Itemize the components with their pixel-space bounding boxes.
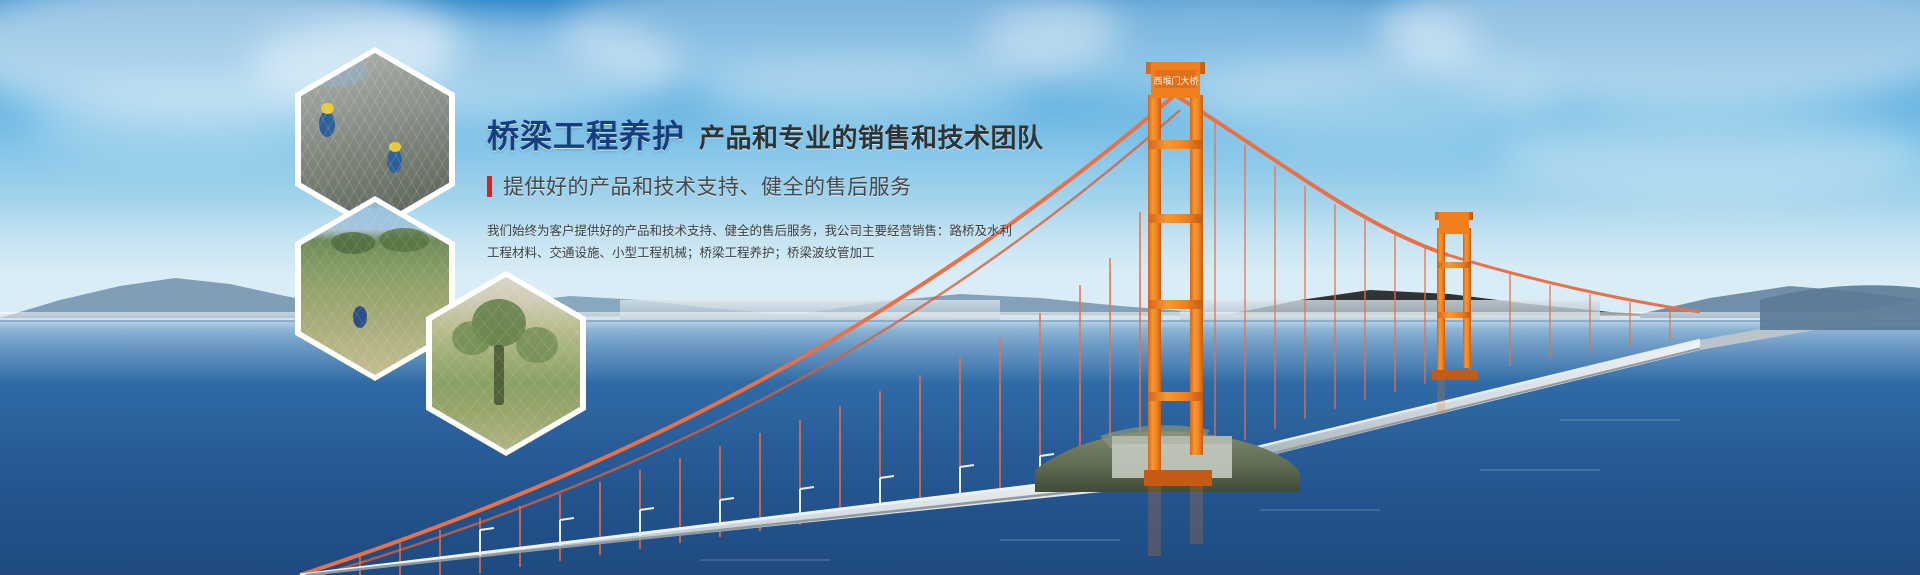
body-paragraph: 我们始终为客户提供好的产品和技术支持、健全的售后服务，我公司主要经营销售：路桥及… bbox=[487, 221, 1047, 264]
accent-bar-icon bbox=[487, 176, 492, 197]
suspension-bridge: 西堠门大桥 bbox=[0, 0, 1920, 575]
hero-banner: 西堠门大桥 bbox=[0, 0, 1920, 575]
body-line: 工程材料、交通设施、小型工程机械；桥梁工程养护；桥梁波纹管加工 bbox=[487, 243, 1047, 265]
headline-primary: 桥梁工程养护 bbox=[487, 120, 685, 152]
body-line: 我们始终为客户提供好的产品和技术支持、健全的售后服务，我公司主要经营销售：路桥及… bbox=[487, 221, 1047, 243]
subheadline-text: 提供好的产品和技术支持、健全的售后服务 bbox=[503, 171, 912, 201]
headline-secondary: 产品和专业的销售和技术团队 bbox=[699, 125, 1044, 151]
svg-text:西堠门大桥: 西堠门大桥 bbox=[1153, 75, 1198, 87]
banner-text-block: 桥梁工程养护 产品和专业的销售和技术团队 提供好的产品和技术支持、健全的售后服务… bbox=[487, 120, 1047, 264]
headline: 桥梁工程养护 产品和专业的销售和技术团队 bbox=[487, 120, 1047, 152]
subheadline: 提供好的产品和技术支持、健全的售后服务 bbox=[487, 171, 1047, 201]
